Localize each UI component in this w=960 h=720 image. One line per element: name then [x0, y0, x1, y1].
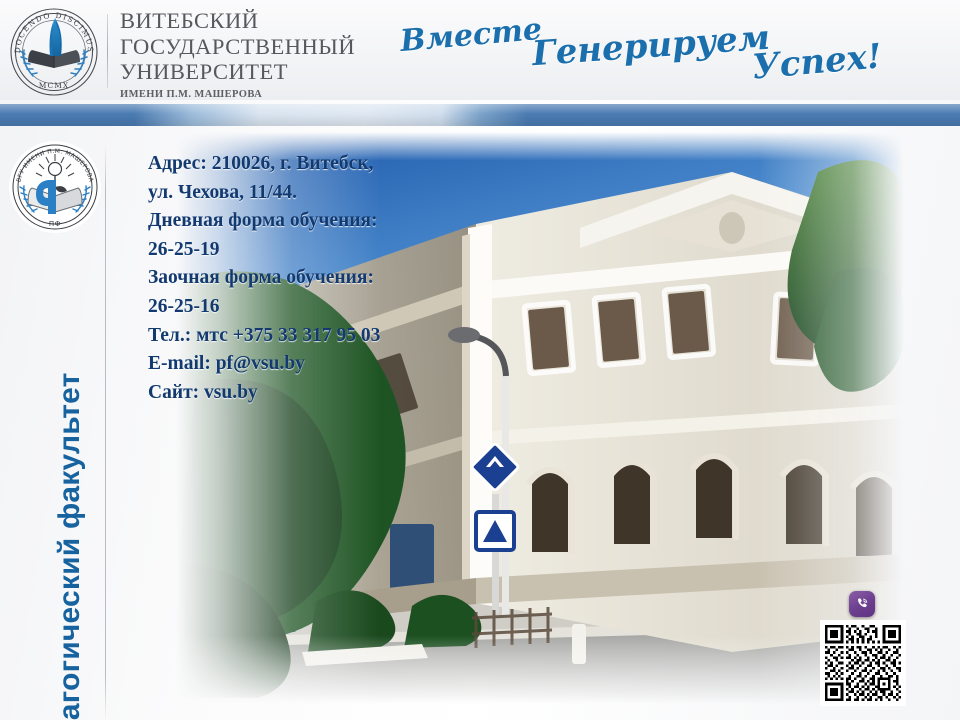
address-line-9: Сайт: vsu.by [148, 379, 478, 408]
slogan: Вместе Генерируем Успех! [392, 2, 912, 98]
slogan-word-1: Вместе [399, 12, 544, 59]
university-subtitle: ИМЕНИ П.М. МАШЕРОВА [120, 89, 420, 100]
address-line-2: ул. Чехова, 11/44. [148, 179, 478, 208]
band-sheen [0, 104, 960, 126]
faculty-title-vertical: Педагогический факультет [48, 218, 92, 720]
address-line-5: Заочная форма обучения: [148, 264, 478, 293]
university-name: ВИТЕБСКИЙ ГОСУДАРСТВЕННЫЙ УНИВЕРСИТЕТ ИМ… [120, 8, 420, 100]
svg-text:MCMX: MCMX [39, 81, 69, 90]
header-divider [107, 14, 108, 88]
slogan-word-3: Успех! [751, 36, 884, 87]
header-blue-band [0, 104, 960, 126]
address-line-7: Тел.: мтс +375 33 317 95 03 [148, 322, 478, 351]
faculty-sidebar: ВГУ ИМЕНИ П.М. МАШЕРОВА [0, 126, 108, 720]
university-logo: DOCENDO DISCIMUS MCMX [8, 6, 100, 98]
slide-header: DOCENDO DISCIMUS MCMX [0, 0, 960, 100]
address-line-3: Дневная форма обучения: [148, 207, 478, 236]
address-line-4: 26-25-19 [148, 236, 478, 265]
viber-icon[interactable] [849, 591, 875, 617]
qr-code[interactable] [820, 620, 906, 706]
address-line-6: 26-25-16 [148, 293, 478, 322]
presentation-slide: DOCENDO DISCIMUS MCMX [0, 0, 960, 720]
address-line-1: Адрес: 210026, г. Витебск, [148, 150, 478, 179]
university-name-line-1: ВИТЕБСКИЙ [120, 8, 420, 34]
university-name-line-3: УНИВЕРСИТЕТ [120, 59, 420, 85]
slogan-word-2: Генерируем [531, 18, 771, 75]
address-line-8: E-mail: pf@vsu.by [148, 350, 478, 379]
sidebar-divider [105, 144, 106, 720]
university-name-line-2: ГОСУДАРСТВЕННЫЙ [120, 34, 420, 60]
contact-address-block: Адрес: 210026, г. Витебск, ул. Чехова, 1… [148, 150, 478, 407]
